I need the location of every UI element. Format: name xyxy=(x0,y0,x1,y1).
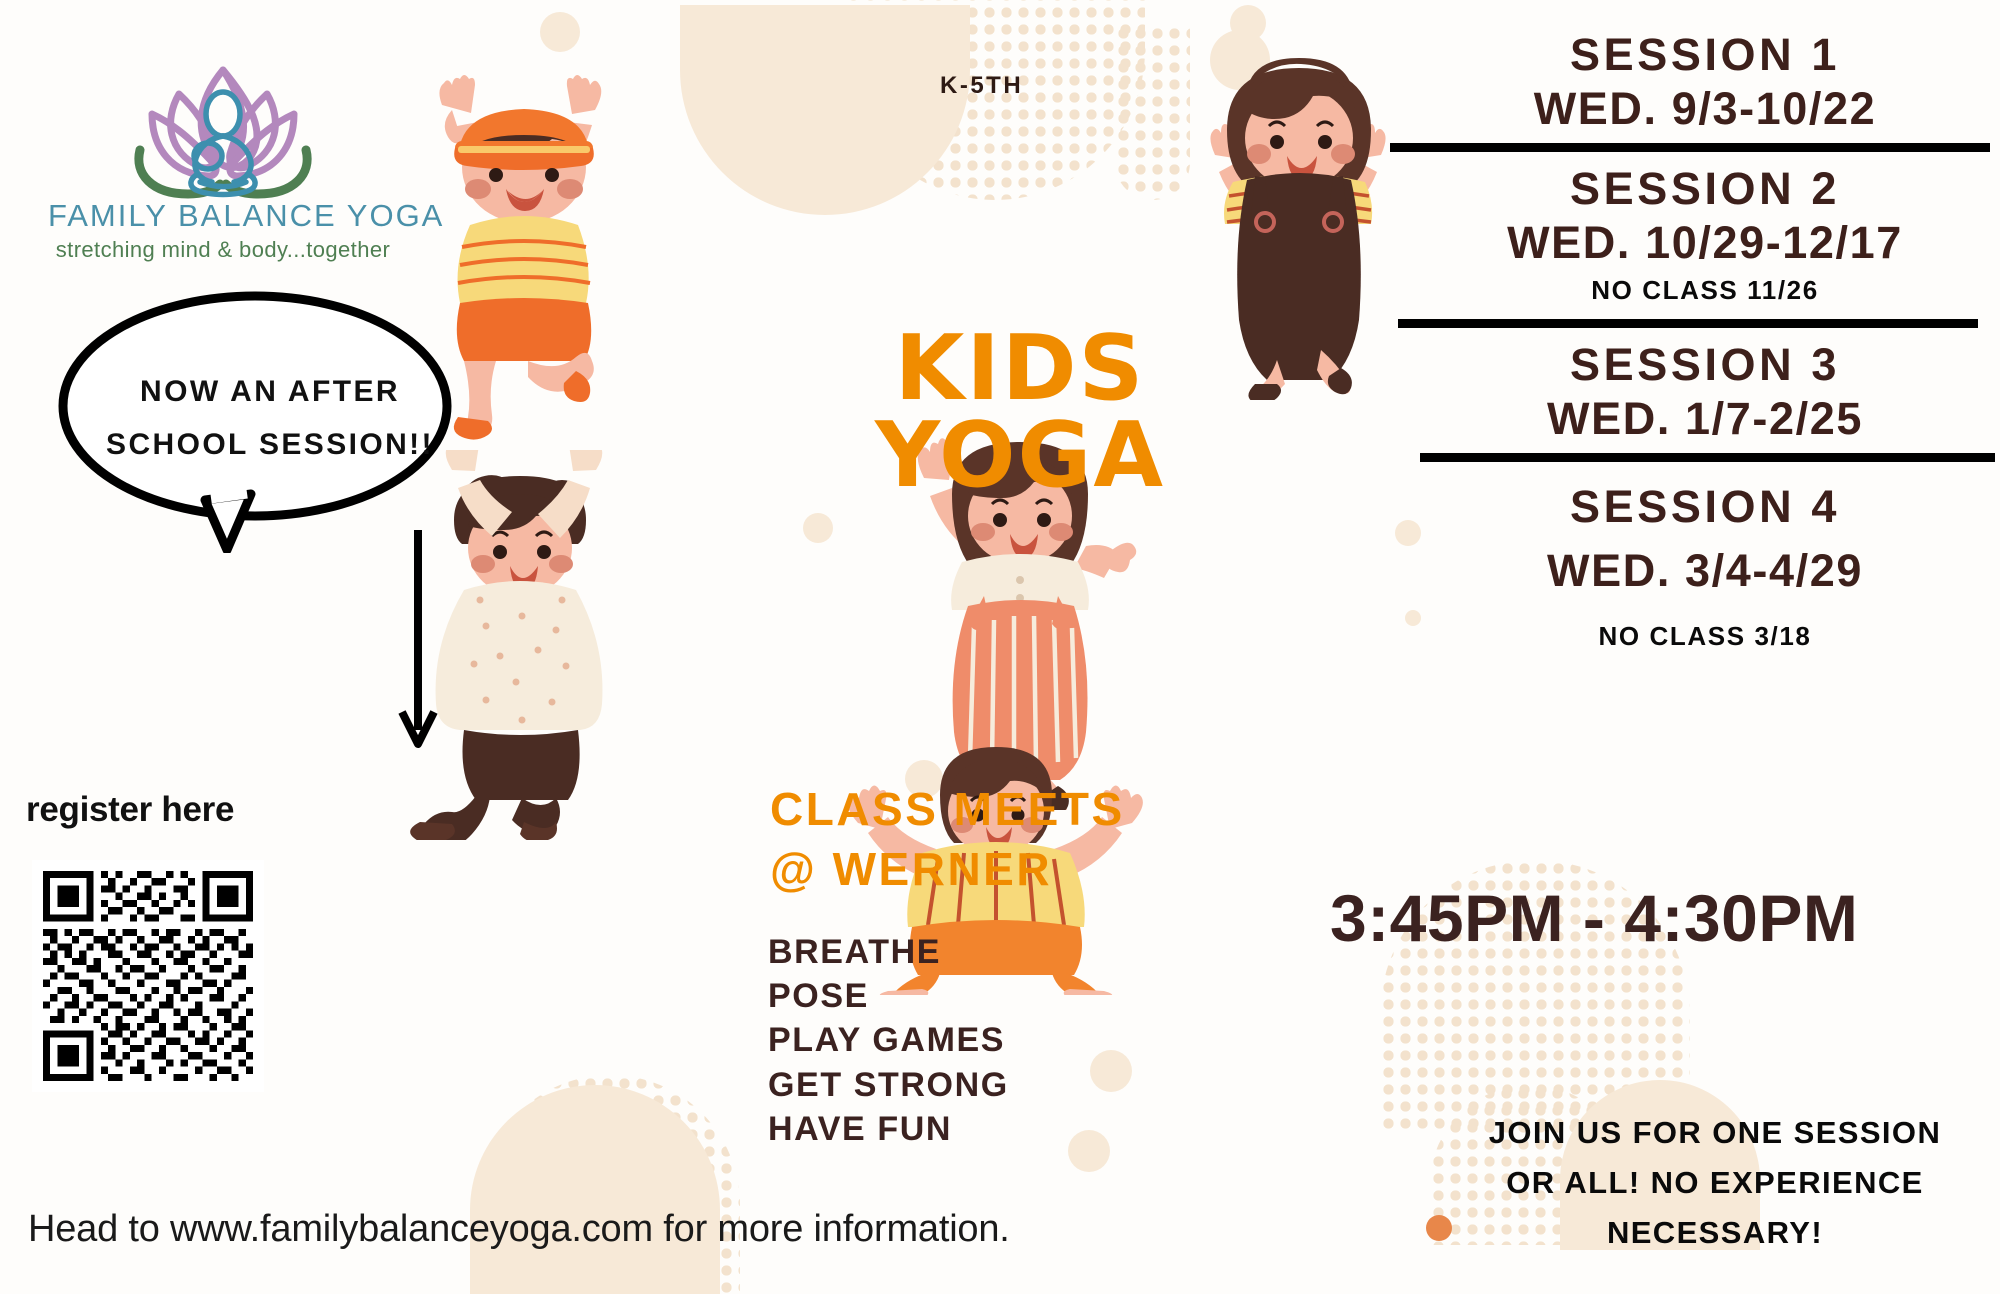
brand-logo: FAMILY BALANCE YOGA stretching mind & bo… xyxy=(48,52,398,263)
decor-blob-small-8 xyxy=(1405,610,1421,626)
decor-blob-small-10 xyxy=(540,12,580,52)
flyer-canvas: FAMILY BALANCE YOGA stretching mind & bo… xyxy=(0,0,2000,1294)
session-divider xyxy=(1398,319,1978,328)
session-entry: SESSION 3 WED. 1/7-2/25 xyxy=(1420,338,1990,446)
activity-item: HAVE FUN xyxy=(768,1107,1009,1151)
join-note-line-3: NECESSARY! xyxy=(1440,1208,1990,1258)
kid-illustration-2 xyxy=(1185,50,1415,400)
session-note: NO CLASS 3/18 xyxy=(1420,616,1990,658)
speech-bubble-text: NOW AN AFTER SCHOOL SESSION!! xyxy=(55,366,485,471)
join-note-line-1: JOIN US FOR ONE SESSION xyxy=(1440,1108,1990,1158)
session-dates: WED. 3/4-4/29 xyxy=(1420,544,1990,598)
session-schedule: SESSION 1 WED. 9/3-10/22 SESSION 2 WED. … xyxy=(1420,28,1990,657)
speech-bubble: NOW AN AFTER SCHOOL SESSION!! xyxy=(55,288,485,553)
activity-item: PLAY GAMES xyxy=(768,1018,1009,1062)
lotus-meditation-logo xyxy=(48,52,398,202)
session-divider xyxy=(1390,143,1990,152)
activity-item: GET STRONG xyxy=(768,1063,1009,1107)
session-divider xyxy=(1420,453,1995,462)
activity-item: POSE xyxy=(768,974,1009,1018)
register-here-label: register here xyxy=(26,790,234,830)
session-entry: SESSION 1 WED. 9/3-10/22 xyxy=(1420,28,1990,136)
session-dates: WED. 10/29-12/17 xyxy=(1420,216,1990,270)
activity-item: BREATHE xyxy=(768,930,1009,974)
decor-blob-small-4 xyxy=(803,513,833,543)
qr-code-image xyxy=(43,871,253,1081)
session-note: NO CLASS 11/26 xyxy=(1420,270,1990,312)
session-title: SESSION 1 xyxy=(1420,28,1990,82)
class-location-line-1: CLASS MEETS xyxy=(770,780,1125,840)
activity-list: BREATHE POSE PLAY GAMES GET STRONG HAVE … xyxy=(768,930,1009,1151)
bubble-line-2: SCHOOL SESSION!! xyxy=(106,428,434,461)
decor-dot-grid-left xyxy=(1115,25,1190,200)
class-time-range: 3:45PM - 4:30PM xyxy=(1330,880,1858,956)
decor-blob-small-9 xyxy=(1068,1130,1110,1172)
session-dates: WED. 1/7-2/25 xyxy=(1420,392,1990,446)
website-footer-note: Head to www.familybalanceyoga.com for mo… xyxy=(28,1208,1010,1251)
brand-name: FAMILY BALANCE YOGA xyxy=(48,198,398,234)
decor-blob-small-1 xyxy=(690,10,748,68)
registration-qr-code[interactable] xyxy=(32,860,264,1092)
join-note-line-2: OR ALL! NO EXPERIENCE xyxy=(1440,1158,1990,1208)
class-location-line-2: @ WERNER xyxy=(770,840,1125,900)
decor-blob-small-7 xyxy=(1395,520,1421,546)
title-line-yoga: YOGA xyxy=(855,412,1185,499)
session-title: SESSION 2 xyxy=(1420,162,1990,216)
session-entry: SESSION 2 WED. 10/29-12/17 NO CLASS 11/2… xyxy=(1420,162,1990,312)
bubble-line-1: NOW AN AFTER xyxy=(140,375,400,408)
join-invitation-note: JOIN US FOR ONE SESSION OR ALL! NO EXPER… xyxy=(1440,1108,1990,1259)
brand-tagline: stretching mind & body...together xyxy=(48,237,398,263)
session-title: SESSION 3 xyxy=(1420,338,1990,392)
decor-blob-small-3 xyxy=(1230,5,1266,41)
session-title: SESSION 4 xyxy=(1420,480,1990,534)
class-location: CLASS MEETS @ WERNER xyxy=(770,780,1125,900)
page-title: KIDS YOGA xyxy=(855,325,1185,500)
bubble-tail-pointer xyxy=(380,530,460,780)
session-entry: SESSION 4 WED. 3/4-4/29 NO CLASS 3/18 xyxy=(1420,480,1990,658)
grade-range-tag: K-5TH xyxy=(940,72,1023,100)
decor-blob-small-6 xyxy=(1090,1050,1132,1092)
session-dates: WED. 9/3-10/22 xyxy=(1420,82,1990,136)
